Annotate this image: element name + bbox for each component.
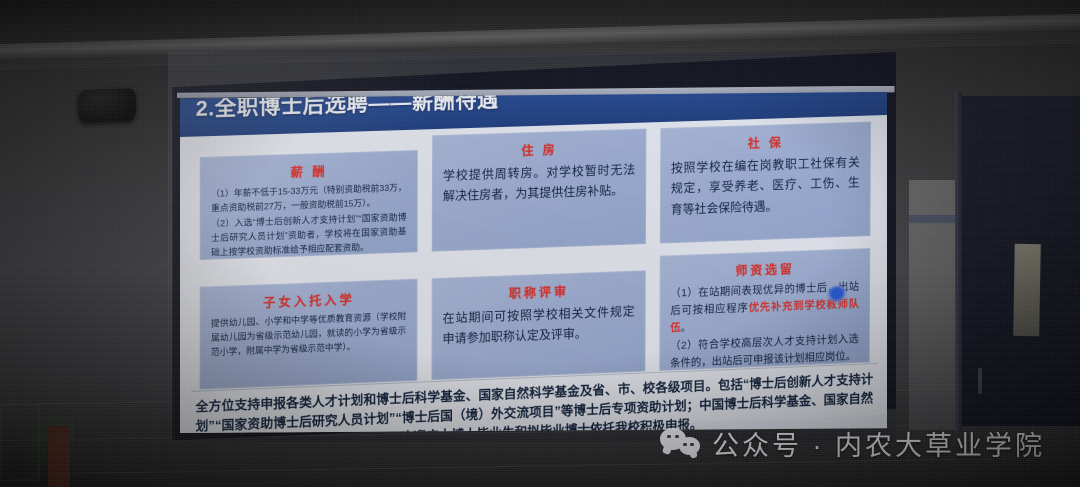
door-frame bbox=[955, 92, 962, 432]
wall-cabinet-band bbox=[909, 215, 955, 223]
card-body-children-education: 提供幼儿园、小学和中学等优质教育资源（学校附属幼儿园为省级示范幼儿园，就读的小学… bbox=[210, 310, 405, 361]
watermark-text: 公众号 · 内农大草业学院 bbox=[712, 424, 1045, 463]
room-photo: 2.全职博士后选聘——薪酬待遇 薪 酬 （1）年薪不低于15-33万元（特别资助… bbox=[0, 0, 1080, 487]
card-title-children-education: 子女入托入学 bbox=[211, 288, 406, 313]
benefits-card-grid: 薪 酬 （1）年薪不低于15-33万元（特别资助税前33万，重点资助税前27万，… bbox=[199, 121, 870, 389]
card-title-housing: 住 房 bbox=[443, 138, 635, 161]
card-body-title-review: 在站期间可按照学校相关文件规定申请参加职称认定及评审。 bbox=[442, 301, 634, 351]
card-body-housing: 学校提供周转房。对学校暂时无法解决住房者，为其提供住房补贴。 bbox=[442, 159, 634, 208]
card-line: 学校提供周转房。对学校暂时无法解决住房者，为其提供住房补贴。 bbox=[442, 159, 634, 207]
card-title-title-review: 职称评审 bbox=[442, 280, 634, 304]
card-title-faculty-retention: 师资选留 bbox=[670, 257, 859, 281]
wechat-eye bbox=[675, 435, 679, 439]
card-salary: 薪 酬 （1）年薪不低于15-33万元（特别资助税前33万，重点资助税前27万，… bbox=[199, 150, 417, 260]
card-line-after: 。 bbox=[680, 321, 690, 334]
wechat-eye bbox=[683, 443, 687, 447]
card-line: 按照学校在编在岗教职工社保有关规定，享受养老、医疗、工伤、生育等社会保险待遇。 bbox=[670, 152, 859, 220]
wechat-eye bbox=[667, 435, 671, 439]
ceiling-speaker-icon bbox=[78, 88, 136, 123]
card-faculty-retention: 师资选留 （1）在站期间表现优异的博士后，出站后可按相应程序优先补充到学校教师队… bbox=[659, 248, 870, 371]
card-title-review: 职称评审 在站期间可按照学校相关文件规定申请参加职称认定及评审。 bbox=[431, 270, 645, 380]
card-body-salary: （1）年薪不低于15-33万元（特别资助税前33万，重点资助税前27万，一般资助… bbox=[211, 181, 407, 260]
card-children-education: 子女入托入学 提供幼儿园、小学和中学等优质教育资源（学校附属幼儿园为省级示范幼儿… bbox=[199, 279, 417, 390]
screen-display-area: 2.全职博士后选聘——薪酬待遇 薪 酬 （1）年薪不低于15-33万元（特别资助… bbox=[180, 92, 888, 433]
slide: 2.全职博士后选聘——薪酬待遇 薪 酬 （1）年薪不低于15-33万元（特别资助… bbox=[180, 92, 888, 433]
card-line: 提供幼儿园、小学和中学等优质教育资源（学校附属幼儿园为省级示范幼儿园，就读的小学… bbox=[211, 310, 406, 360]
card-line: （2）入选“博士后创新人才支持计划”“国家资助博士后研究人员计划”资助者，学校将… bbox=[211, 211, 407, 260]
card-title-social-insurance: 社 保 bbox=[671, 131, 860, 154]
watermark: 公众号 · 内农大草业学院 bbox=[660, 424, 1045, 463]
card-social-insurance: 社 保 按照学校在编在岗教职工社保有关规定，享受养老、医疗、工伤、生育等社会保险… bbox=[659, 121, 870, 243]
card-title-salary: 薪 酬 bbox=[211, 160, 407, 184]
wechat-eye bbox=[690, 443, 694, 447]
card-housing: 住 房 学校提供周转房。对学校暂时无法解决住房者，为其提供住房补贴。 bbox=[431, 129, 646, 252]
door-window bbox=[1013, 244, 1041, 336]
wechat-icon bbox=[660, 428, 700, 460]
card-body-social-insurance: 按照学校在编在岗教职工社保有关规定，享受养老、医疗、工伤、生育等社会保险待遇。 bbox=[670, 152, 859, 221]
fire-extinguisher bbox=[48, 425, 70, 487]
door-right[interactable] bbox=[962, 96, 1080, 426]
presentation-screen: 2.全职博士后选聘——薪酬待遇 薪 酬 （1）年薪不低于15-33万元（特别资助… bbox=[168, 52, 896, 442]
screen-glare-dot bbox=[826, 285, 848, 304]
card-line: 在站期间可按照学校相关文件规定申请参加职称认定及评审。 bbox=[442, 301, 634, 350]
door-handle-icon[interactable] bbox=[978, 368, 982, 394]
